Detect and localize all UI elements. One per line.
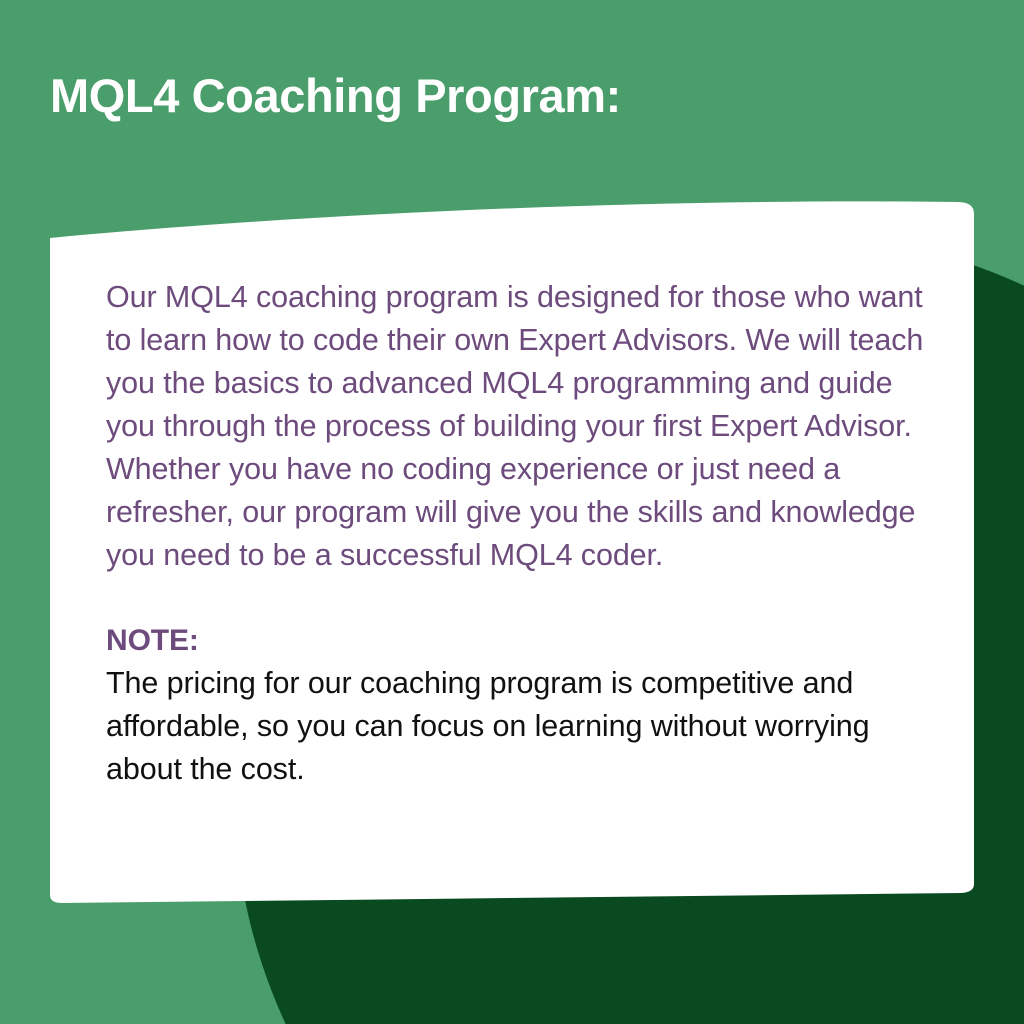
note-block: NOTE: The pricing for our coaching progr… xyxy=(106,619,926,791)
card-content: Our MQL4 coaching program is designed fo… xyxy=(106,276,926,791)
note-paragraph: The pricing for our coaching program is … xyxy=(106,662,926,791)
poster-canvas: MQL4 Coaching Program: Our MQL4 coaching… xyxy=(0,0,1024,1024)
body-paragraph: Our MQL4 coaching program is designed fo… xyxy=(106,276,926,577)
note-label: NOTE: xyxy=(106,619,926,662)
page-title: MQL4 Coaching Program: xyxy=(50,69,950,123)
